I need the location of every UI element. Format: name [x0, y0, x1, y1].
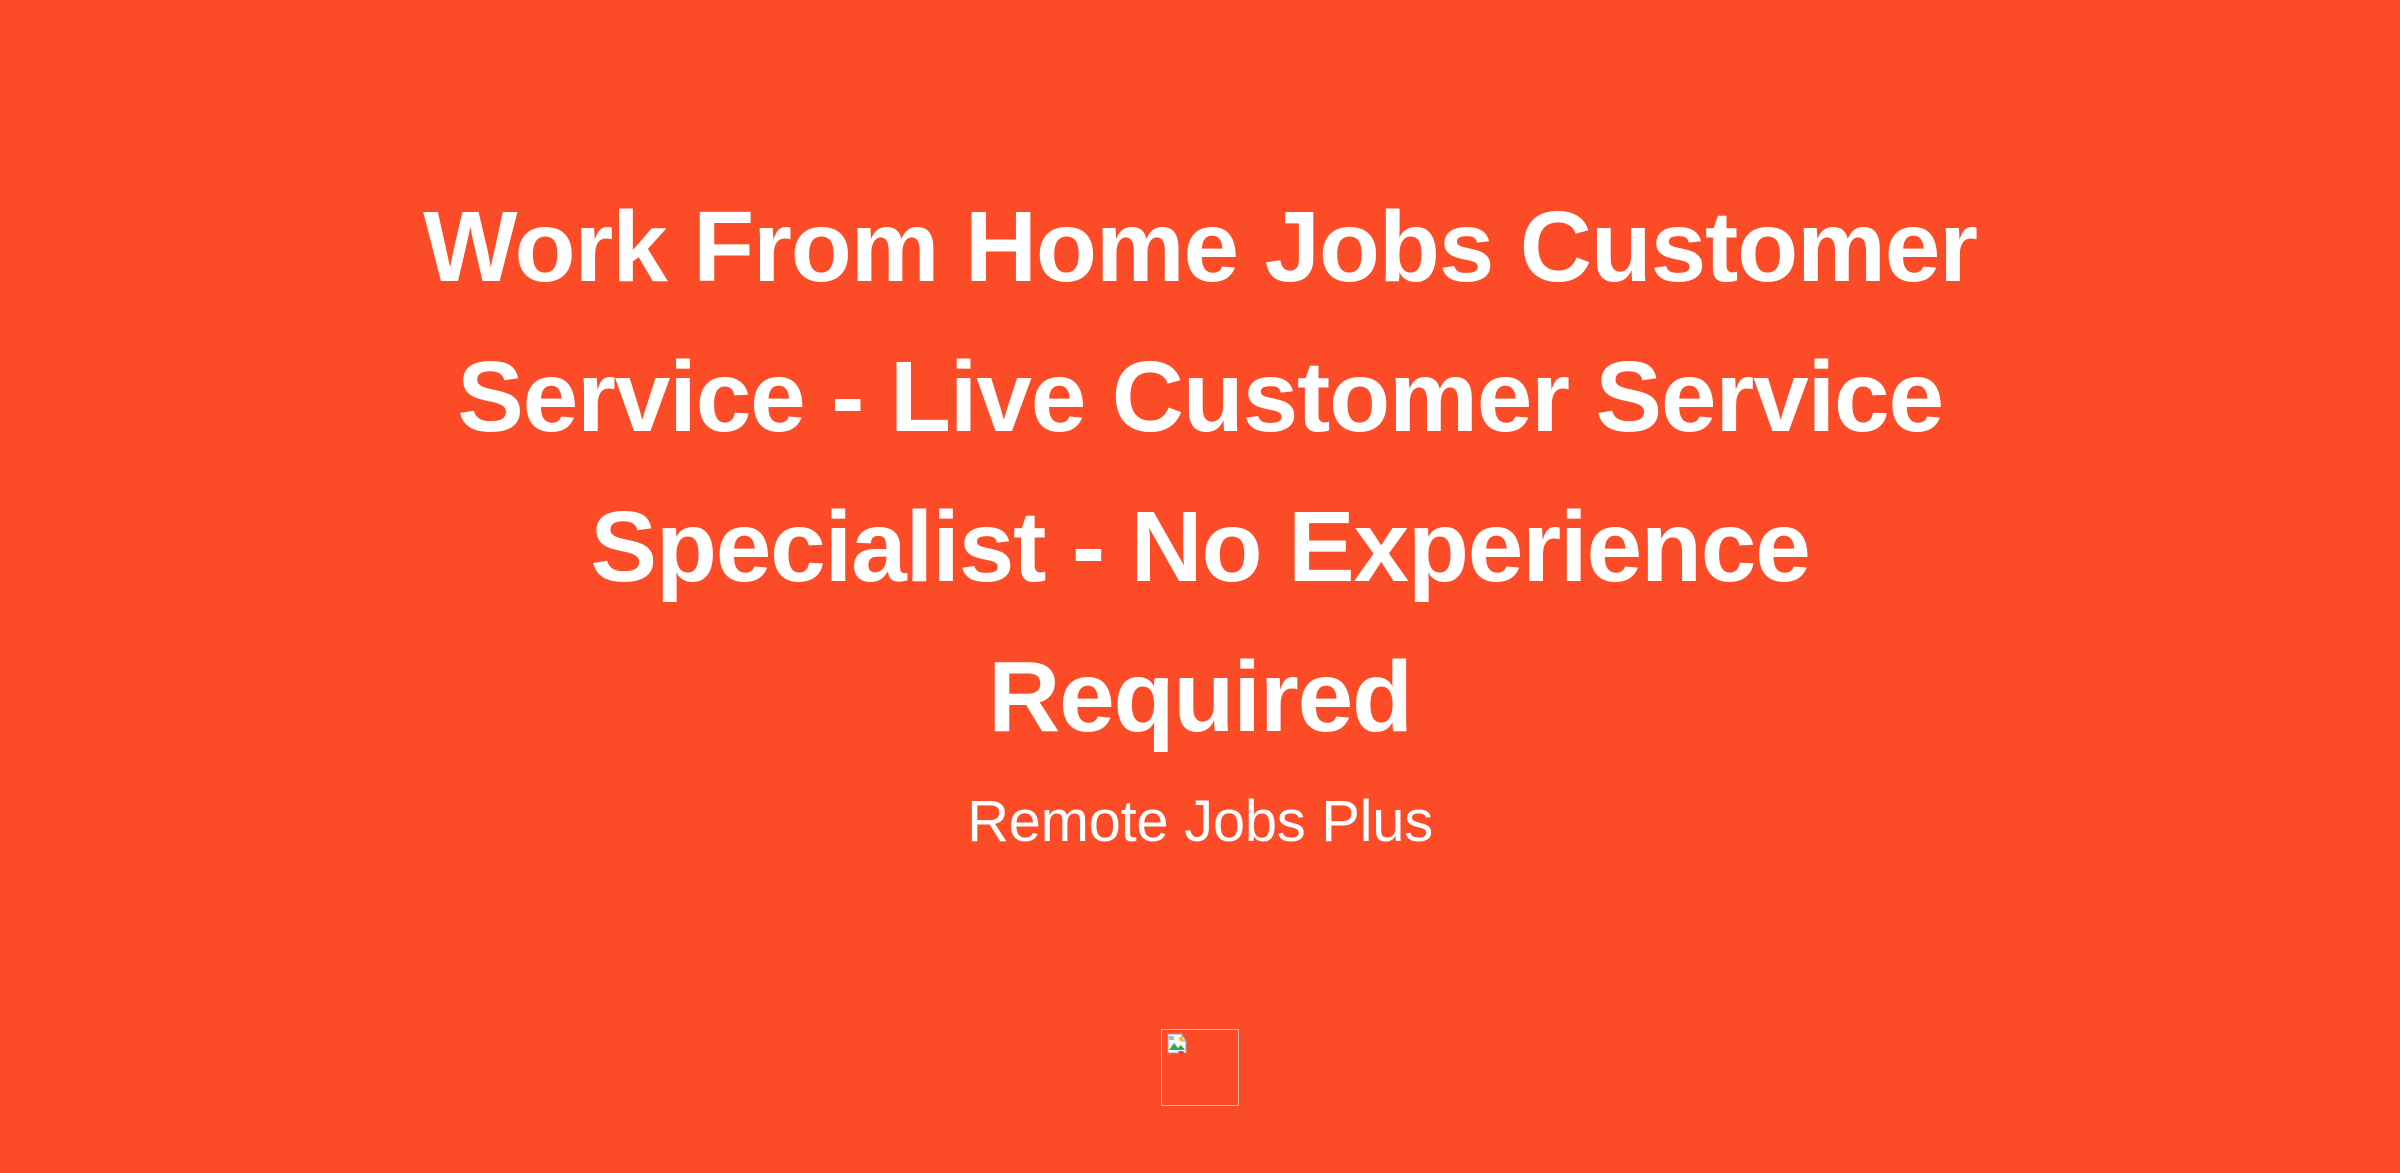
broken-image-placeholder[interactable] — [1161, 1029, 1239, 1106]
page-title: Work From Home Jobs Customer Service - L… — [370, 0, 2030, 772]
page-root: Work From Home Jobs Customer Service - L… — [0, 0, 2400, 1173]
site-name-subtitle: Remote Jobs Plus — [370, 772, 2030, 858]
broken-image-icon — [1165, 1032, 1191, 1058]
media-slot — [0, 1029, 2400, 1106]
hero-block: Work From Home Jobs Customer Service - L… — [370, 0, 2030, 858]
